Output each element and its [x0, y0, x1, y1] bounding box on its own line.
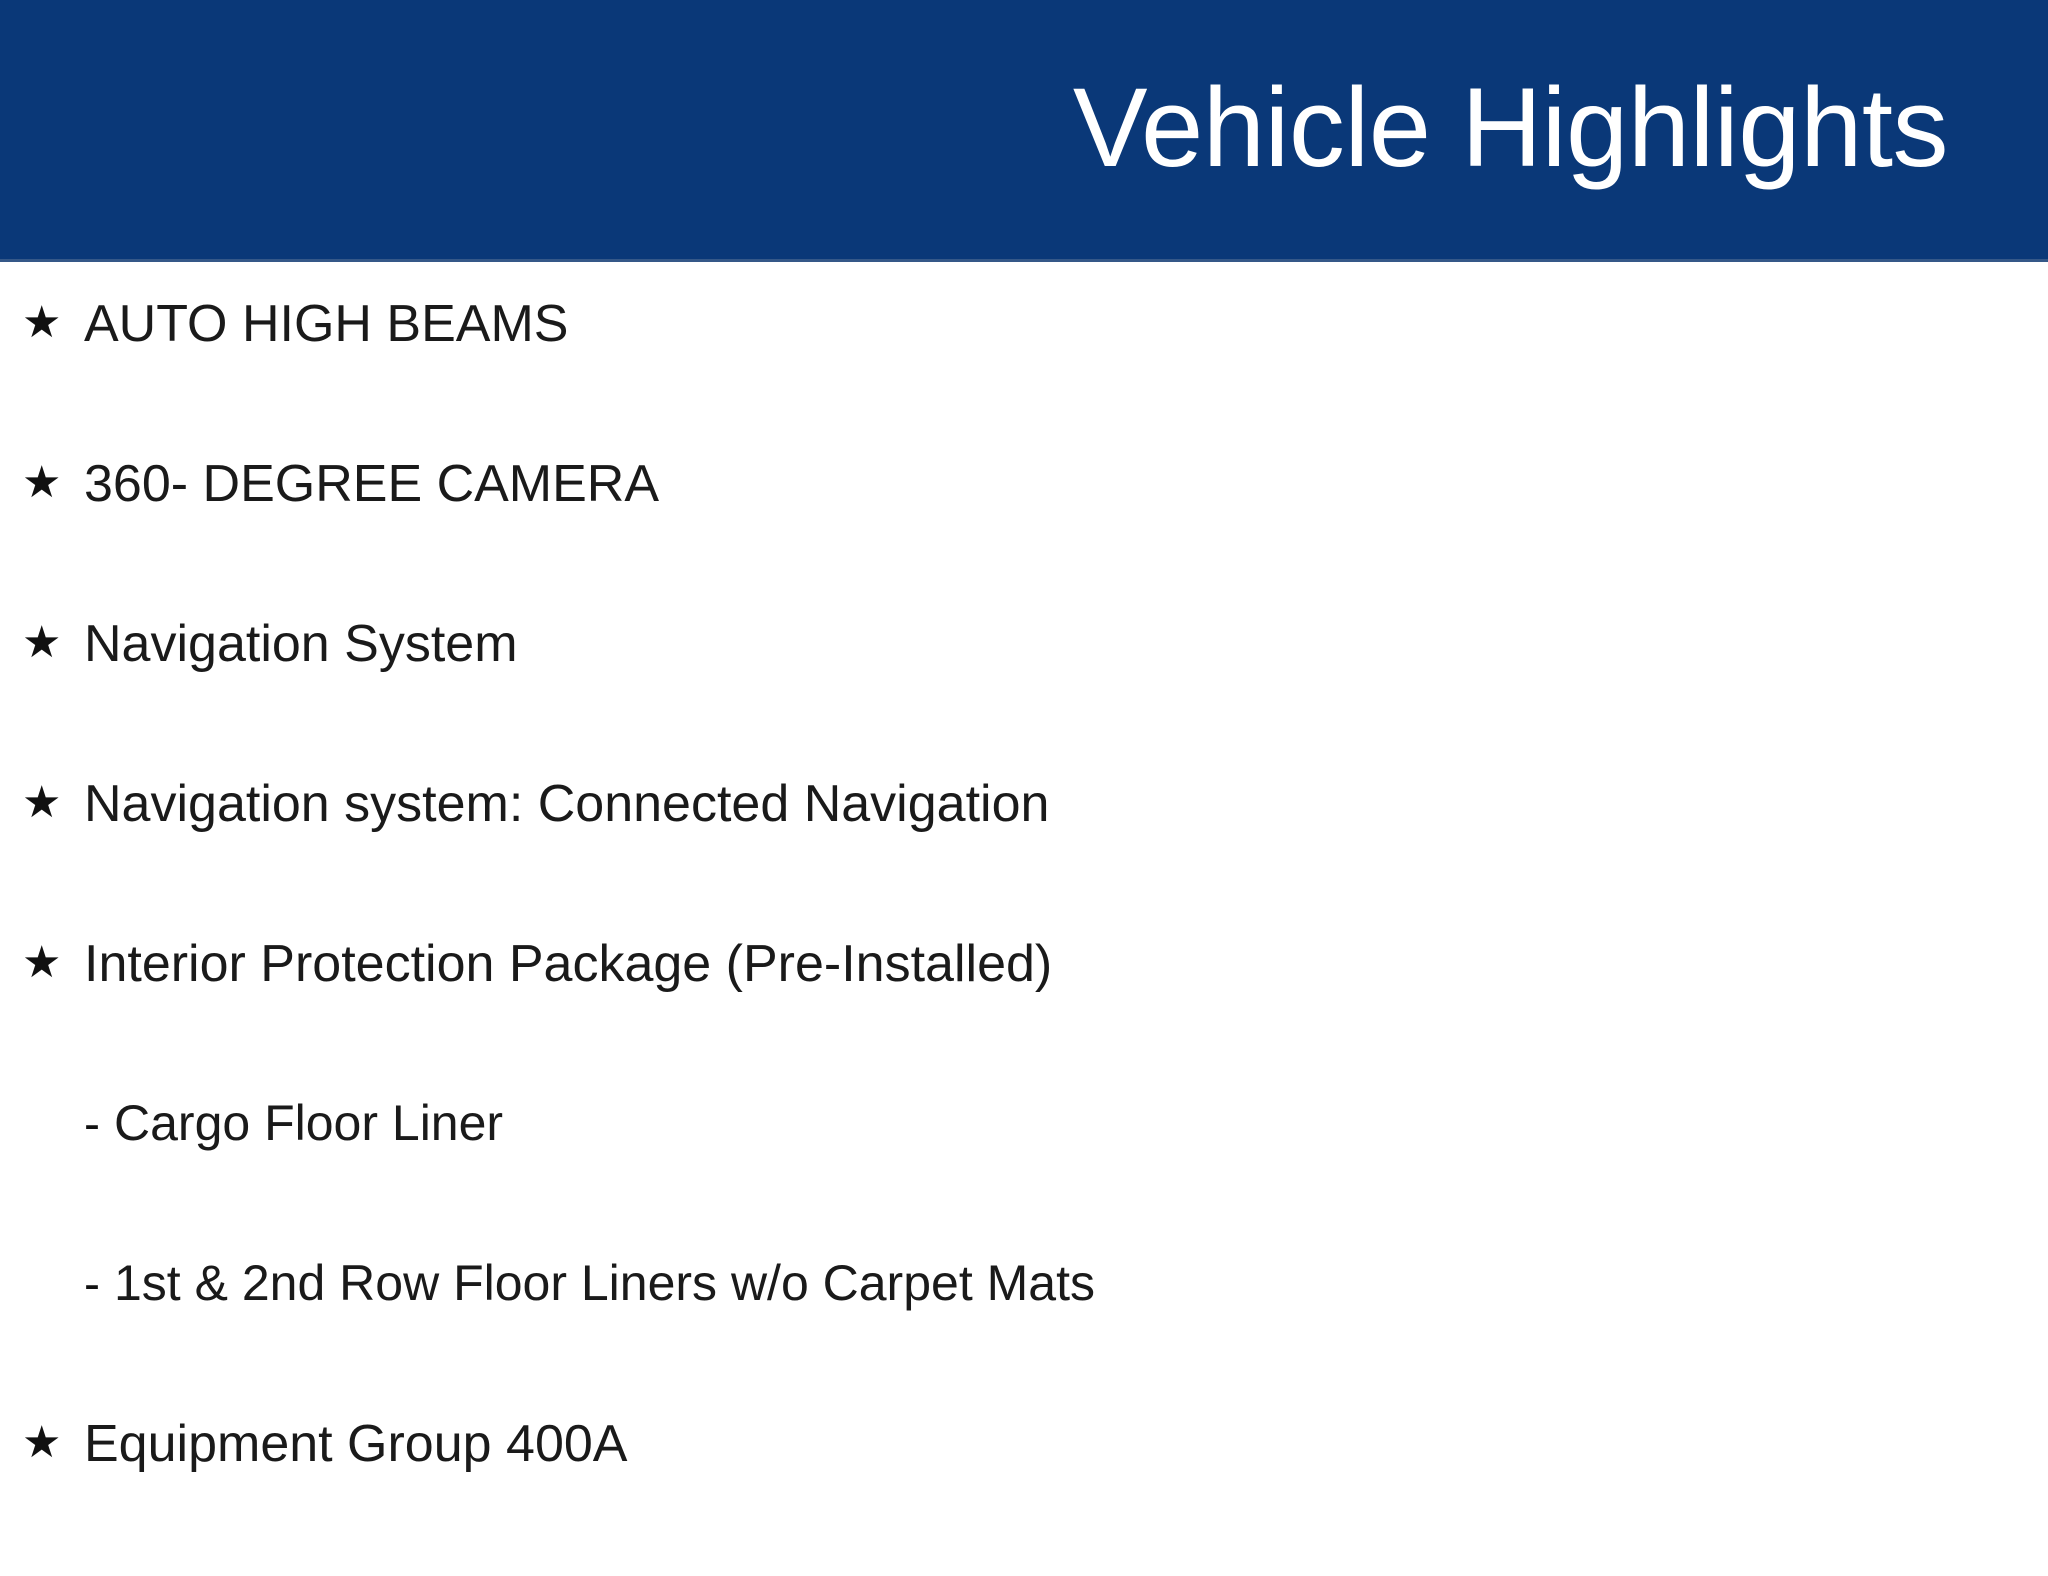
list-item: ★ AUTO HIGH BEAMS [0, 296, 2048, 456]
sub-list-item: - 1st & 2nd Row Floor Liners w/o Carpet … [0, 1256, 2048, 1416]
header-banner: Vehicle Highlights [0, 0, 2048, 259]
star-icon: ★ [22, 941, 84, 985]
list-item-label: Equipment Group 400A [84, 1416, 2048, 1473]
star-icon: ★ [22, 461, 84, 505]
list-item-label: 360- DEGREE CAMERA [84, 456, 2048, 513]
list-item: ★ Interior Protection Package (Pre-Insta… [0, 936, 2048, 1096]
star-icon: ★ [22, 781, 84, 825]
sub-list-item-label: Cargo Floor Liner [114, 1096, 2048, 1151]
highlights-panel: ★ AUTO HIGH BEAMS ★ 360- DEGREE CAMERA ★… [0, 262, 2048, 1536]
list-item: ★ 360- DEGREE CAMERA [0, 456, 2048, 616]
vehicle-highlights-list: ★ AUTO HIGH BEAMS ★ 360- DEGREE CAMERA ★… [0, 296, 2048, 1576]
star-icon: ★ [22, 621, 84, 665]
list-item: ★ Navigation System [0, 616, 2048, 776]
list-item-label: Navigation System [84, 616, 2048, 673]
sub-list-item: - Cargo Floor Liner [0, 1096, 2048, 1256]
list-item-label: Navigation system: Connected Navigation [84, 776, 2048, 833]
list-item-label: Interior Protection Package (Pre-Install… [84, 936, 2048, 993]
sub-list-item-label: 1st & 2nd Row Floor Liners w/o Carpet Ma… [114, 1256, 2048, 1311]
list-item: ★ Navigation system: Connected Navigatio… [0, 776, 2048, 936]
list-item: ★ Equipment Group 400A [0, 1416, 2048, 1576]
list-item-label: AUTO HIGH BEAMS [84, 296, 2048, 353]
dash-icon: - [84, 1101, 114, 1149]
star-icon: ★ [22, 1421, 84, 1465]
dash-icon: - [84, 1261, 114, 1309]
page-title: Vehicle Highlights [1073, 69, 1948, 191]
star-icon: ★ [22, 301, 84, 345]
